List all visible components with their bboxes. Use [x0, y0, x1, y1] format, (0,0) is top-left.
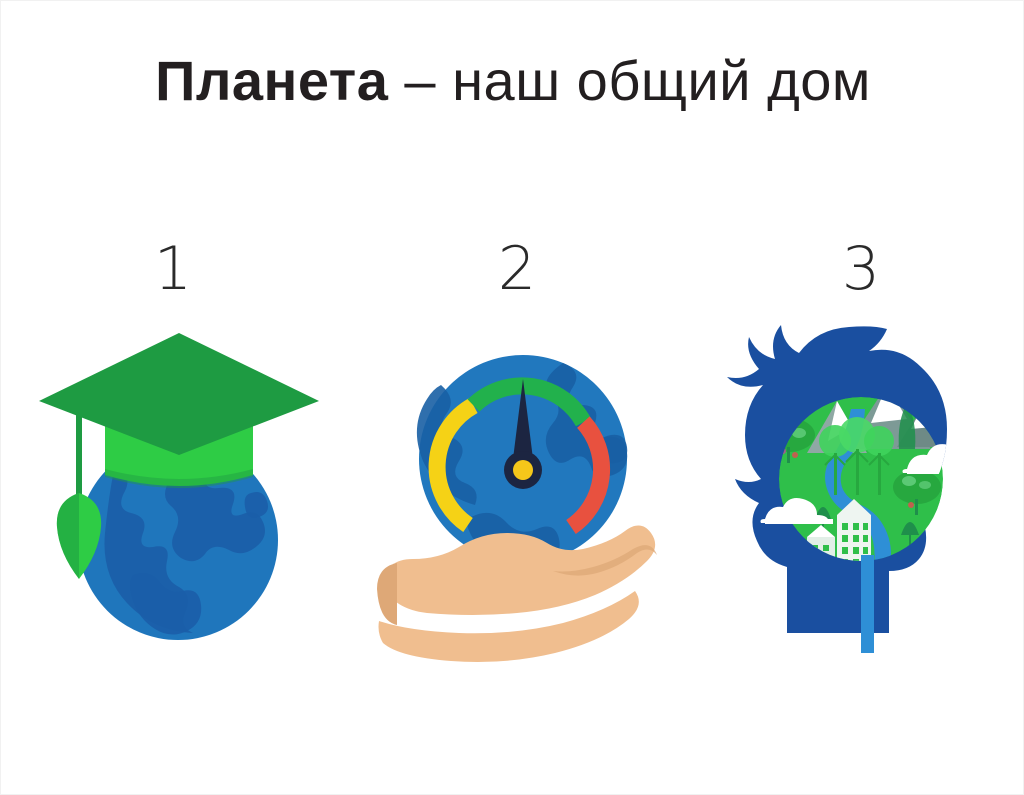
column-2: 2	[367, 239, 667, 669]
column-1-number: 1	[154, 239, 192, 311]
head-silhouette-nature-icon	[711, 323, 1011, 653]
column-2-number: 2	[498, 239, 536, 311]
title-separator: –	[388, 49, 452, 112]
hand-shape	[377, 525, 657, 662]
slide-canvas: Планета – наш общий дом 1	[0, 0, 1024, 795]
column-1: 1	[23, 239, 323, 669]
title-bold-part: Планета	[155, 49, 388, 112]
river-outflow	[861, 555, 874, 653]
column-3: 3	[711, 239, 1011, 669]
graduation-cap-globe-icon	[23, 325, 323, 655]
title-light-part: наш общий дом	[452, 49, 871, 112]
column-3-number: 3	[842, 239, 880, 311]
icon-columns: 1	[1, 239, 1024, 669]
title-text: Планета – наш общий дом	[155, 53, 871, 109]
hand-holding-globe-gauge-icon	[367, 339, 667, 669]
page-title: Планета – наш общий дом	[1, 53, 1024, 109]
